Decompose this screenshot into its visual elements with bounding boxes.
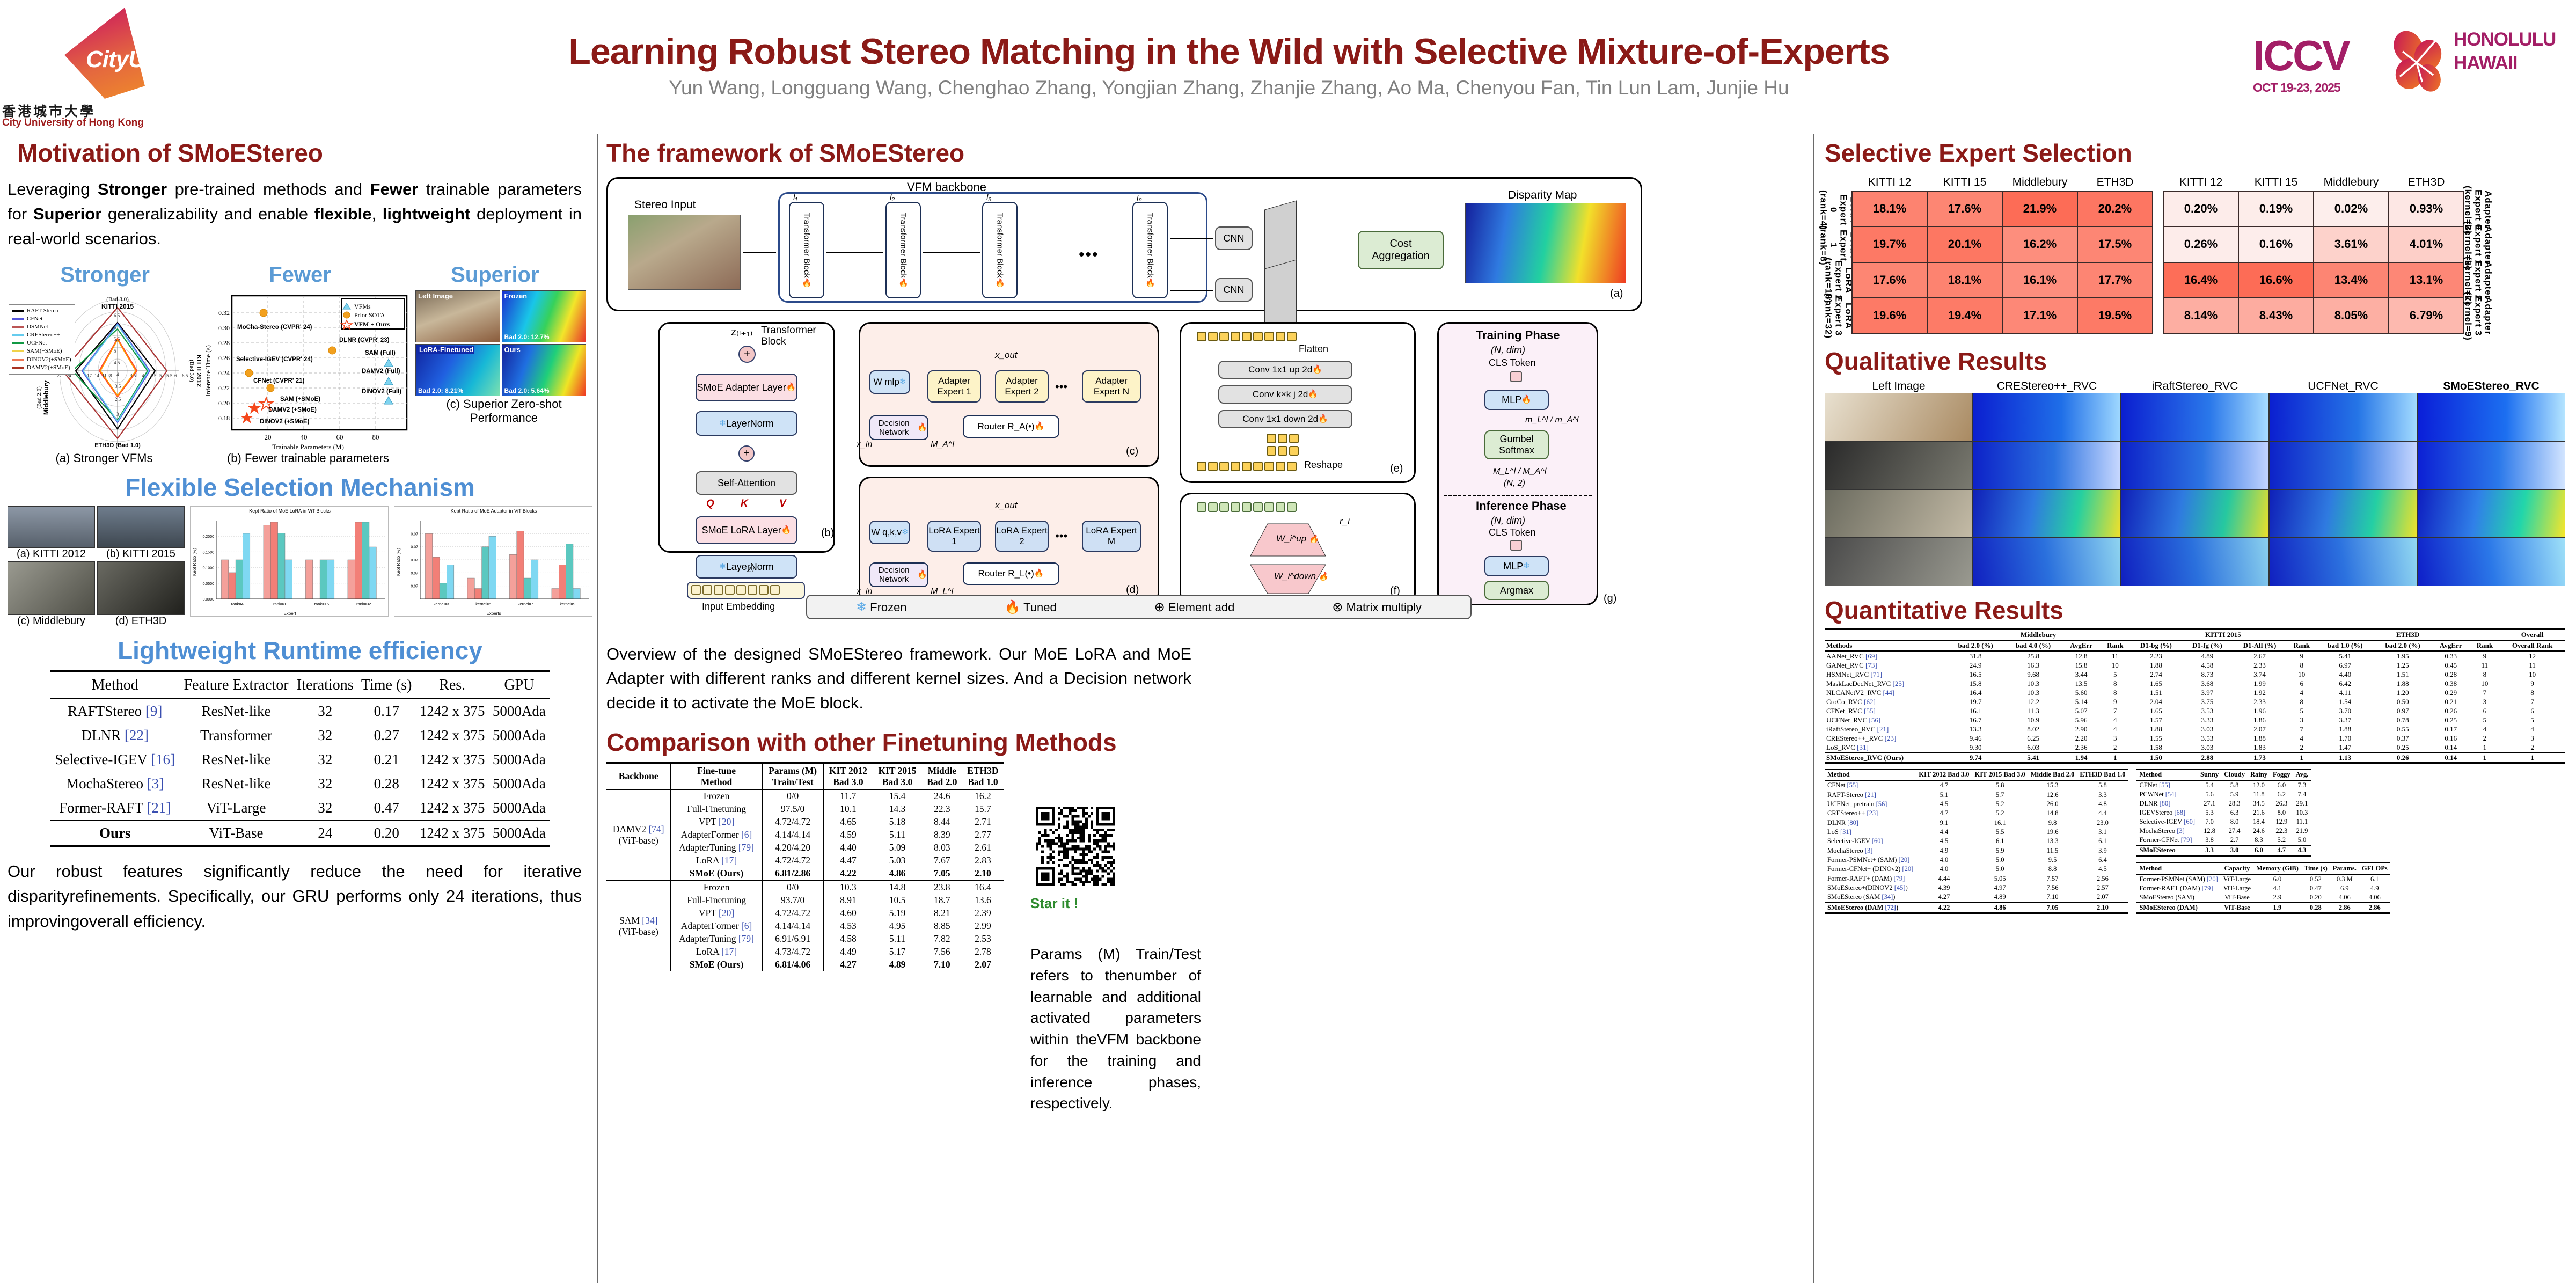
table-cell: 14.3 [873, 803, 922, 816]
table-cell: 5.9 [2221, 790, 2248, 799]
star-it-label: Star it ! [1030, 895, 1079, 912]
table-cell: ViT-Base [179, 821, 292, 846]
quant-col-header: Rank [2101, 640, 2130, 651]
heatmap-cell: 8.43% [2238, 298, 2314, 333]
table-cell: 0.55 [2374, 724, 2432, 734]
table-cell: 5.18 [873, 816, 922, 829]
table-cell: 4.86 [873, 867, 922, 881]
svg-text:0.22: 0.22 [218, 384, 230, 392]
table-cell: 32 [293, 723, 357, 748]
table-cell: 7 [2499, 697, 2565, 706]
table-cell: 0.26 [2374, 752, 2432, 763]
token-row-bottom-e [1197, 462, 1298, 474]
table-cell: 6 [2287, 679, 2316, 688]
subhead-superior: Superior [398, 263, 592, 287]
table-cell: 2.86 [2330, 903, 2359, 913]
table-cell: 4.47 [823, 854, 873, 867]
table-row: MochaStereo [3]4.95.911.53.9 [1825, 846, 2128, 855]
table-cell: PCWNet [54] [2136, 790, 2198, 799]
quant-col-header: Rainy [2248, 769, 2270, 780]
quant-group-header: Overall [2499, 629, 2565, 640]
table-cell: 5.03 [873, 854, 922, 867]
heatmap-row: 0.26%0.16%3.61%4.01% [2163, 226, 2464, 262]
heatmap-lora-table: KITTI 12KITTI 15MiddleburyETH3D 18.1%17.… [1851, 176, 2153, 334]
quant-col-header: D1-fg (%) [2182, 640, 2232, 651]
table-cell: 9.68 [2004, 670, 2062, 679]
table-cell: AdapterTuning [79] [671, 841, 762, 854]
table-cell: 5.41 [2316, 651, 2374, 661]
table-cell: 0.97 [2374, 706, 2432, 715]
section-title-flexible: Flexible Selection Mechanism [8, 473, 592, 502]
svg-text:(Bad 3.0): (Bad 3.0) [188, 360, 195, 382]
heatmap-cell: 19.7% [1852, 226, 1927, 262]
table-cell: 4.40 [2316, 670, 2374, 679]
table-cell: 10.3 [2293, 808, 2311, 817]
table-row: Former-CFNet [79]3.82.78.35.25.0 [2136, 836, 2311, 845]
iccv-location: HONOLULU HAWAII [2454, 28, 2556, 75]
table-cell: 12.8 [2062, 651, 2101, 661]
table-cell: 2.90 [2062, 724, 2101, 734]
table-cell: 9 [2470, 651, 2500, 661]
table-cell: SMoEStereo+(DINOV2 [45]) [1825, 883, 1916, 892]
table-cell: 1.51 [2374, 670, 2432, 679]
bar [362, 522, 369, 599]
layer-label-3: l₃ [986, 193, 991, 202]
w-down-label: W_i^down 🔥 [1274, 571, 1328, 582]
qualitative-image [2417, 393, 2565, 441]
layernorm-box-1: ❄ LayerNorm [696, 411, 797, 436]
qr-code-image[interactable] [1036, 807, 1115, 886]
svg-text:DINOV2 (Full): DINOV2 (Full) [362, 389, 401, 395]
bar [348, 560, 355, 599]
table-cell: 1.57 [2130, 715, 2183, 724]
table-cell: 13.3 [1946, 724, 2004, 734]
tag-e: (e) [1390, 463, 1403, 475]
table-cell: 7 [2101, 706, 2130, 715]
heatmap-cell: 16.6% [2238, 262, 2314, 298]
heatmap-cell: 19.6% [1852, 298, 1927, 333]
table-row: HSMNet_RVC [71]16.59.683.4452.748.733.74… [1825, 670, 2565, 679]
quant-group-header [1825, 629, 1946, 640]
table-cell: 3.97 [2182, 688, 2232, 697]
quant-col-header: GFLOPs [2359, 863, 2390, 874]
svg-text:MoCha-Stereo (CVPR' 24): MoCha-Stereo (CVPR' 24) [237, 324, 312, 331]
table-row: CREStereo++_RVC [23]9.466.252.2031.553.5… [1825, 734, 2565, 743]
table-cell: 2.9 [2253, 893, 2301, 903]
table-cell: 3.70 [2316, 706, 2374, 715]
table-cell: 14.8 [2028, 809, 2077, 818]
qr-code[interactable] [1036, 807, 1116, 889]
bar [573, 588, 580, 598]
qualitative-image [1825, 489, 1973, 538]
quant-col-header: Middle Bad 2.0 [2028, 769, 2077, 780]
table-cell: 4.58 [2182, 661, 2232, 670]
svg-text:21: 21 [76, 373, 81, 378]
table-cell: 0.14 [2432, 752, 2470, 763]
disparity-map-image [1465, 203, 1626, 283]
table-row: SMoEStereo (DAM [72])4.224.867.052.10 [1825, 903, 2128, 914]
table-cell: 4.89 [1972, 892, 2028, 902]
svg-text:Kept Ratio of MoE Adapter in V: Kept Ratio of MoE Adapter in ViT Blocks [451, 508, 537, 514]
closing-paragraph: Our robust features significantly reduce… [8, 859, 582, 934]
table-cell: 14.8 [873, 881, 922, 894]
table-cell: 18.4 [2248, 817, 2270, 826]
table-cell: 7 [2287, 724, 2316, 734]
table-row: IGEVStereo [68]5.36.321.68.010.3 [2136, 808, 2311, 817]
table-cell: 8.02 [2004, 724, 2062, 734]
token-row-top-f [1197, 502, 1298, 515]
svg-text:DINOV2 (+SMoE): DINOV2 (+SMoE) [260, 419, 310, 425]
diagram-legend: ❄ Frozen 🔥 Tuned ⊕ Element add ⊗ Matrix … [806, 595, 1472, 619]
table-cell: Selective-IGEV [16] [50, 748, 179, 772]
heatmap-col-header: Middlebury [2314, 176, 2389, 191]
table-cell: SMoEStereo (DAM [72]) [1825, 903, 1916, 914]
qualitative-image [2121, 393, 2269, 441]
figure-fewer-scatter: 0.320.300.28 0.260.240.22 0.200.18 2040 … [201, 290, 415, 465]
svg-text:Expert: Expert [283, 611, 296, 616]
qualitative-row [1825, 393, 2565, 441]
svg-text:0.1500: 0.1500 [203, 551, 215, 554]
table-row: GANet_RVC [73]24.916.315.8101.884.582.33… [1825, 661, 2565, 670]
table-cell: 4.89 [2182, 651, 2232, 661]
runtime-col-header: Iterations [293, 671, 357, 699]
tag-c: (c) [1126, 445, 1138, 458]
cnn-box-bottom: CNN [1215, 278, 1253, 302]
table-cell: 0.29 [2432, 688, 2470, 697]
tag-g: (g) [1604, 592, 1616, 605]
table-cell: 12 [2499, 651, 2565, 661]
table-cell: SMoEStereo [2136, 845, 2198, 856]
poster-header: CityU 香港城市大學 City University of Hong Kon… [0, 0, 2576, 132]
svg-text:0.30: 0.30 [218, 324, 230, 332]
table-cell: 1242 x 375 [416, 772, 489, 796]
zl-label: zₗ [747, 563, 753, 575]
table-cell: 6.3 [2221, 808, 2248, 817]
svg-text:11: 11 [102, 373, 107, 378]
table-cell: Former-RAFT+ (DAM) [79] [1825, 874, 1916, 883]
radar-legend-item: SAM(+SMoE) [12, 347, 71, 355]
heatmap-cell: 0.93% [2389, 191, 2464, 226]
svg-text:5: 5 [159, 373, 162, 378]
superior-lora-image: LoRA-Finetuned Bad 2.0: 8.21% [415, 344, 500, 396]
svg-text:Inference Time (s): Inference Time (s) [204, 345, 212, 397]
cmp-backbone-cell: DAMV2 [74](ViT-base) [606, 789, 671, 881]
superior-left-image-label: Left Image [418, 292, 453, 300]
m-big-label-train: M_L^l / M_A^l [1493, 467, 1546, 477]
table-cell: 0.20 [2301, 893, 2330, 903]
k-label: K [741, 498, 748, 510]
table-cell: 5.1 [1916, 790, 1972, 799]
table-cell: 4 [2470, 724, 2500, 734]
bar [278, 533, 285, 599]
stereo-input-label: Stereo Input [634, 199, 696, 211]
table-cell: Ours [50, 821, 179, 846]
table-cell: 4.73/4.72 [762, 946, 823, 958]
table-cell: 0.38 [2432, 679, 2470, 688]
argmax-box: Argmax [1484, 581, 1549, 600]
w-up-label: W_i^up 🔥 [1276, 533, 1319, 544]
table-cell: 5000Ada [489, 821, 550, 846]
table-cell: RAFT-Stereo [21] [1825, 790, 1916, 799]
svg-text:0.07: 0.07 [411, 584, 418, 588]
table-cell: 3.03 [2182, 724, 2232, 734]
thumb-middlebury [8, 561, 95, 615]
router-a-box: Router R_A(•) 🔥 [963, 415, 1059, 438]
superior-lora-badvalue: Bad 2.0: 8.21% [418, 387, 463, 394]
table-cell: 3 [2101, 734, 2130, 743]
table-cell: 2 [2470, 734, 2500, 743]
table-cell: ViT-Large [2221, 884, 2253, 893]
table-cell: 6.25 [2004, 734, 2062, 743]
table-cell: DLNR [22] [50, 723, 179, 748]
table-cell: 8.91 [823, 894, 873, 907]
table-cell: 6.81/2.86 [762, 867, 823, 881]
table-cell: VPT [20] [671, 816, 762, 829]
table-cell: 11.8 [2248, 790, 2270, 799]
r-i-label: r_i [1340, 516, 1350, 527]
superior-ours-image: Ours Bad 2.0: 5.64% [502, 344, 587, 396]
heatmap-cell: 3.61% [2314, 226, 2389, 262]
table-cell: 2.57 [2077, 883, 2128, 892]
cmp-col-header: Fine-tuneMethod [671, 763, 762, 789]
table-cell: 15.8 [1946, 679, 2004, 688]
transformer-block-3: Transformer Block 🔥 [982, 202, 1018, 298]
cityu-logo-mark-label: CityU [86, 46, 150, 73]
table-cell: 5.8 [2077, 780, 2128, 790]
table-cell: 0.28 [357, 772, 416, 796]
stereo-input-thumbnail [628, 215, 741, 290]
framework-diagram: VFM backbone Stereo Input Transformer Bl… [606, 173, 1658, 640]
table-cell: 6.9 [2330, 884, 2359, 893]
heatmap-row: 17.6%18.1%16.1%17.7% [1852, 262, 2153, 298]
qualitative-col-header: Left Image [1825, 380, 1973, 393]
bar [236, 560, 243, 599]
table-cell: 1.20 [2374, 688, 2432, 697]
x-in-label-a: x_in [857, 440, 872, 450]
bar [264, 525, 270, 598]
table-cell: 5.8 [2221, 780, 2248, 790]
heatmap-cell: 21.9% [2002, 191, 2077, 226]
heatmap-cell: 19.4% [1927, 298, 2002, 333]
table-cell: 1.70 [2316, 734, 2374, 743]
thumb-eth3d [97, 561, 185, 615]
heatmap-cell: 16.2% [2002, 226, 2077, 262]
table-cell: 2.88 [2182, 752, 2232, 763]
table-cell: 4.60 [823, 907, 873, 920]
table-cell: 5.0 [1972, 865, 2028, 874]
table-cell: AdapterFormer [6] [671, 829, 762, 841]
table-cell: Frozen [671, 881, 762, 894]
quant-group-header: ETH3D [2316, 629, 2499, 640]
quant-group-header: KITTI 2015 [2130, 629, 2316, 640]
table-cell: 2.99 [962, 920, 1004, 933]
heatmap-col-header: KITTI 15 [1927, 176, 2002, 191]
training-phase-title: Training Phase [1476, 328, 1560, 342]
heatmap-cell: 17.6% [1852, 262, 1927, 298]
table-cell: 1.73 [2232, 752, 2287, 763]
table-cell: 4.86 [1972, 903, 2028, 914]
transformer-block-label: TransformerBlock [761, 325, 816, 348]
svg-text:8: 8 [109, 373, 112, 378]
table-cell: 7.10 [922, 958, 962, 971]
svg-text:VFMs: VFMs [354, 303, 371, 310]
table-cell: 3.75 [2182, 697, 2232, 706]
table-cell: 11 [2499, 661, 2565, 670]
heatmap-col-header: Middlebury [2002, 176, 2077, 191]
quant-col-header: Avg. [2293, 769, 2311, 780]
table-row: Former-PSMNet+ (SAM) [20]4.05.09.56.4 [1825, 855, 2128, 865]
quantitative-kitti-table: MethodKIT 2012 Bad 3.0KIT 2015 Bad 3.0Mi… [1825, 769, 2128, 914]
bar [221, 560, 228, 599]
figure-caption-a: (a) Stronger VFMs [8, 451, 201, 465]
cost-aggregation-box: Cost Aggregation [1358, 231, 1444, 269]
bar [482, 546, 489, 598]
arrow-input-to-backbone [743, 252, 776, 253]
table-row: SMoEStereo (SAM [34])4.274.897.102.07 [1825, 892, 2128, 902]
svg-text:Kept Ratio of MoE LoRA in ViT: Kept Ratio of MoE LoRA in ViT Blocks [249, 508, 331, 514]
n2-label-train: (N, 2) [1504, 479, 1525, 488]
table-row: Selective-IGEV [60]7.08.018.412.911.1 [2136, 817, 2311, 826]
table-cell: 29.1 [2293, 799, 2311, 808]
left-column: Motivation of SMoEStereo Leveraging Stro… [8, 138, 592, 934]
table-cell: 5.2 [1972, 809, 2028, 818]
table-cell: 7 [2470, 688, 2500, 697]
table-cell: 0.37 [2374, 734, 2432, 743]
table-cell: 2.53 [962, 933, 1004, 946]
table-cell: 4.27 [1916, 892, 1972, 902]
table-cell: 27.4 [2221, 826, 2248, 836]
dataset-thumbnails: (a) KITTI 2012 (b) KITTI 2015 (c) Middle… [8, 506, 185, 627]
table-row: AANet_RVC [69]31.825.812.8112.234.892.67… [1825, 651, 2565, 661]
table-cell: 4 [2287, 734, 2316, 743]
table-cell: 1.50 [2130, 752, 2183, 763]
table-cell: 1.55 [2130, 734, 2183, 743]
quant-col-header: Method [2136, 863, 2220, 874]
inference-phase-title: Inference Phase [1476, 499, 1567, 513]
table-cell: 5.9 [1972, 846, 2028, 855]
table-cell: 5 [2499, 715, 2565, 724]
table-cell: 21.6 [2248, 808, 2270, 817]
table-cell: 4.53 [823, 920, 873, 933]
qualitative-grid: Left ImageCREStereo++_RVCiRaftStereo_RVC… [1825, 380, 2565, 586]
quant-col-header: bad 2.0 (%) [1946, 640, 2004, 651]
heatmap-row-label: LoRA Expert 0 (rank=4) [1825, 192, 1851, 228]
table-cell: 4.4 [2077, 809, 2128, 818]
table-cell: 8 [2470, 670, 2500, 679]
runtime-col-header: GPU [489, 671, 550, 699]
table-cell: SMoE (Ours) [671, 867, 762, 881]
heatmap-cell: 18.1% [1927, 262, 2002, 298]
svg-text:3.5: 3.5 [130, 373, 136, 378]
table-cell: 16.5 [1946, 670, 2004, 679]
table-cell: 2.33 [2232, 697, 2287, 706]
table-cell: 11 [2470, 661, 2500, 670]
table-cell: 4.44 [1916, 874, 1972, 883]
table-cell: 10.3 [2004, 679, 2062, 688]
quant-col-header: bad 1.0 (%) [2316, 640, 2374, 651]
table-cell: 0.25 [2432, 715, 2470, 724]
layer-label-n: lₙ [1137, 193, 1141, 203]
q-label: Q [706, 498, 714, 510]
svg-text:rank=4: rank=4 [231, 602, 244, 606]
table-cell: 8.8 [2028, 865, 2077, 874]
decision-network-box-a: Decision Network🔥 [869, 415, 928, 440]
table-cell: 7.3 [2293, 780, 2311, 790]
table-cell: 19.6 [2028, 828, 2077, 837]
table-row: SMoEStereo (SAM)ViT-Base2.90.204.064.06 [2136, 893, 2390, 903]
table-cell: 2.39 [962, 907, 1004, 920]
table-cell: 1242 x 375 [416, 699, 489, 723]
table-cell: Full-Finetuning [671, 803, 762, 816]
section-title-motivation: Motivation of SMoEStereo [17, 138, 592, 167]
table-cell: 4 [2499, 724, 2565, 734]
qualitative-image [1973, 441, 2121, 489]
layernorm-box-2: ❄ LayerNorm [696, 555, 797, 579]
superior-ours-badvalue: Bad 2.0: 5.64% [504, 387, 550, 394]
heatmap-cell: 17.5% [2077, 226, 2153, 262]
table-cell: 5.8 [1972, 780, 2028, 790]
table-cell: 6.91/6.91 [762, 933, 823, 946]
bar [305, 560, 312, 599]
table-cell: 0.26 [2432, 706, 2470, 715]
table-cell: 2 [2287, 743, 2316, 752]
subhead-stronger: Stronger [8, 263, 202, 287]
table-cell: 3.53 [2182, 706, 2232, 715]
table-cell: 2.33 [2232, 661, 2287, 670]
table-cell: 10 [2101, 661, 2130, 670]
table-row: MochaStereo [3]12.827.424.622.321.9 [2136, 826, 2311, 836]
runtime-col-header: Method [50, 671, 179, 699]
svg-text:VFM + Ours: VFM + Ours [354, 320, 390, 328]
table-cell: 10.3 [2004, 688, 2062, 697]
figure-stronger-radar: (Bad 3.0) KITTI 2015 (Bad 3.0) KITTI 201… [8, 290, 201, 465]
table-cell: 4.49 [823, 946, 873, 958]
radar-legend-item: UCFNet [12, 339, 71, 347]
table-cell: 0.25 [2374, 743, 2432, 752]
table-cell: 2.78 [962, 946, 1004, 958]
table-cell: 93.7/0 [762, 894, 823, 907]
svg-text:SAM (Full): SAM (Full) [365, 350, 396, 356]
figure-caption-c: (c) Superior Zero-shot Performance [415, 397, 592, 425]
table-cell: 4.11 [2316, 688, 2374, 697]
table-cell: 3.9 [2077, 846, 2128, 855]
superior-lora-label: LoRA-Finetuned [418, 346, 474, 354]
table-cell: Selective-IGEV [60] [2136, 817, 2198, 826]
table-cell: 3.3 [2198, 845, 2221, 856]
heatmap-cell: 19.5% [2077, 298, 2153, 333]
table-cell: 8 [2499, 688, 2565, 697]
table-cell: 32 [293, 748, 357, 772]
table-cell: ViT-Base [2221, 903, 2253, 913]
page-title: Learning Robust Stereo Matching in the W… [220, 33, 2238, 71]
cmp-col-header: ETH3DBad 1.0 [962, 763, 1004, 789]
quant-col-header: bad 2.0 (%) [2374, 640, 2432, 651]
table-cell: 3.74 [2232, 670, 2287, 679]
legend-tuned: 🔥 Tuned [1005, 599, 1057, 615]
table-cell: 22.3 [922, 803, 962, 816]
table-cell: 0.17 [2432, 724, 2470, 734]
w-mlp-box: W mlp❄ [869, 370, 910, 394]
table-cell: 9 [2499, 679, 2565, 688]
table-cell: 4.5 [1916, 837, 1972, 846]
table-cell: 1242 x 375 [416, 796, 489, 821]
table-row-ours: OursViT-Base240.201242 x 3755000Ada [50, 821, 550, 846]
lora-expert-m: LoRA Expert M [1082, 521, 1141, 552]
table-cell: 13.5 [2062, 679, 2101, 688]
radar-legend-item: DINOV2(+SMoE) [12, 356, 71, 364]
svg-text:4.5: 4.5 [150, 373, 157, 378]
zl1-label: z₍ₗ₊₁₎ [731, 325, 752, 339]
